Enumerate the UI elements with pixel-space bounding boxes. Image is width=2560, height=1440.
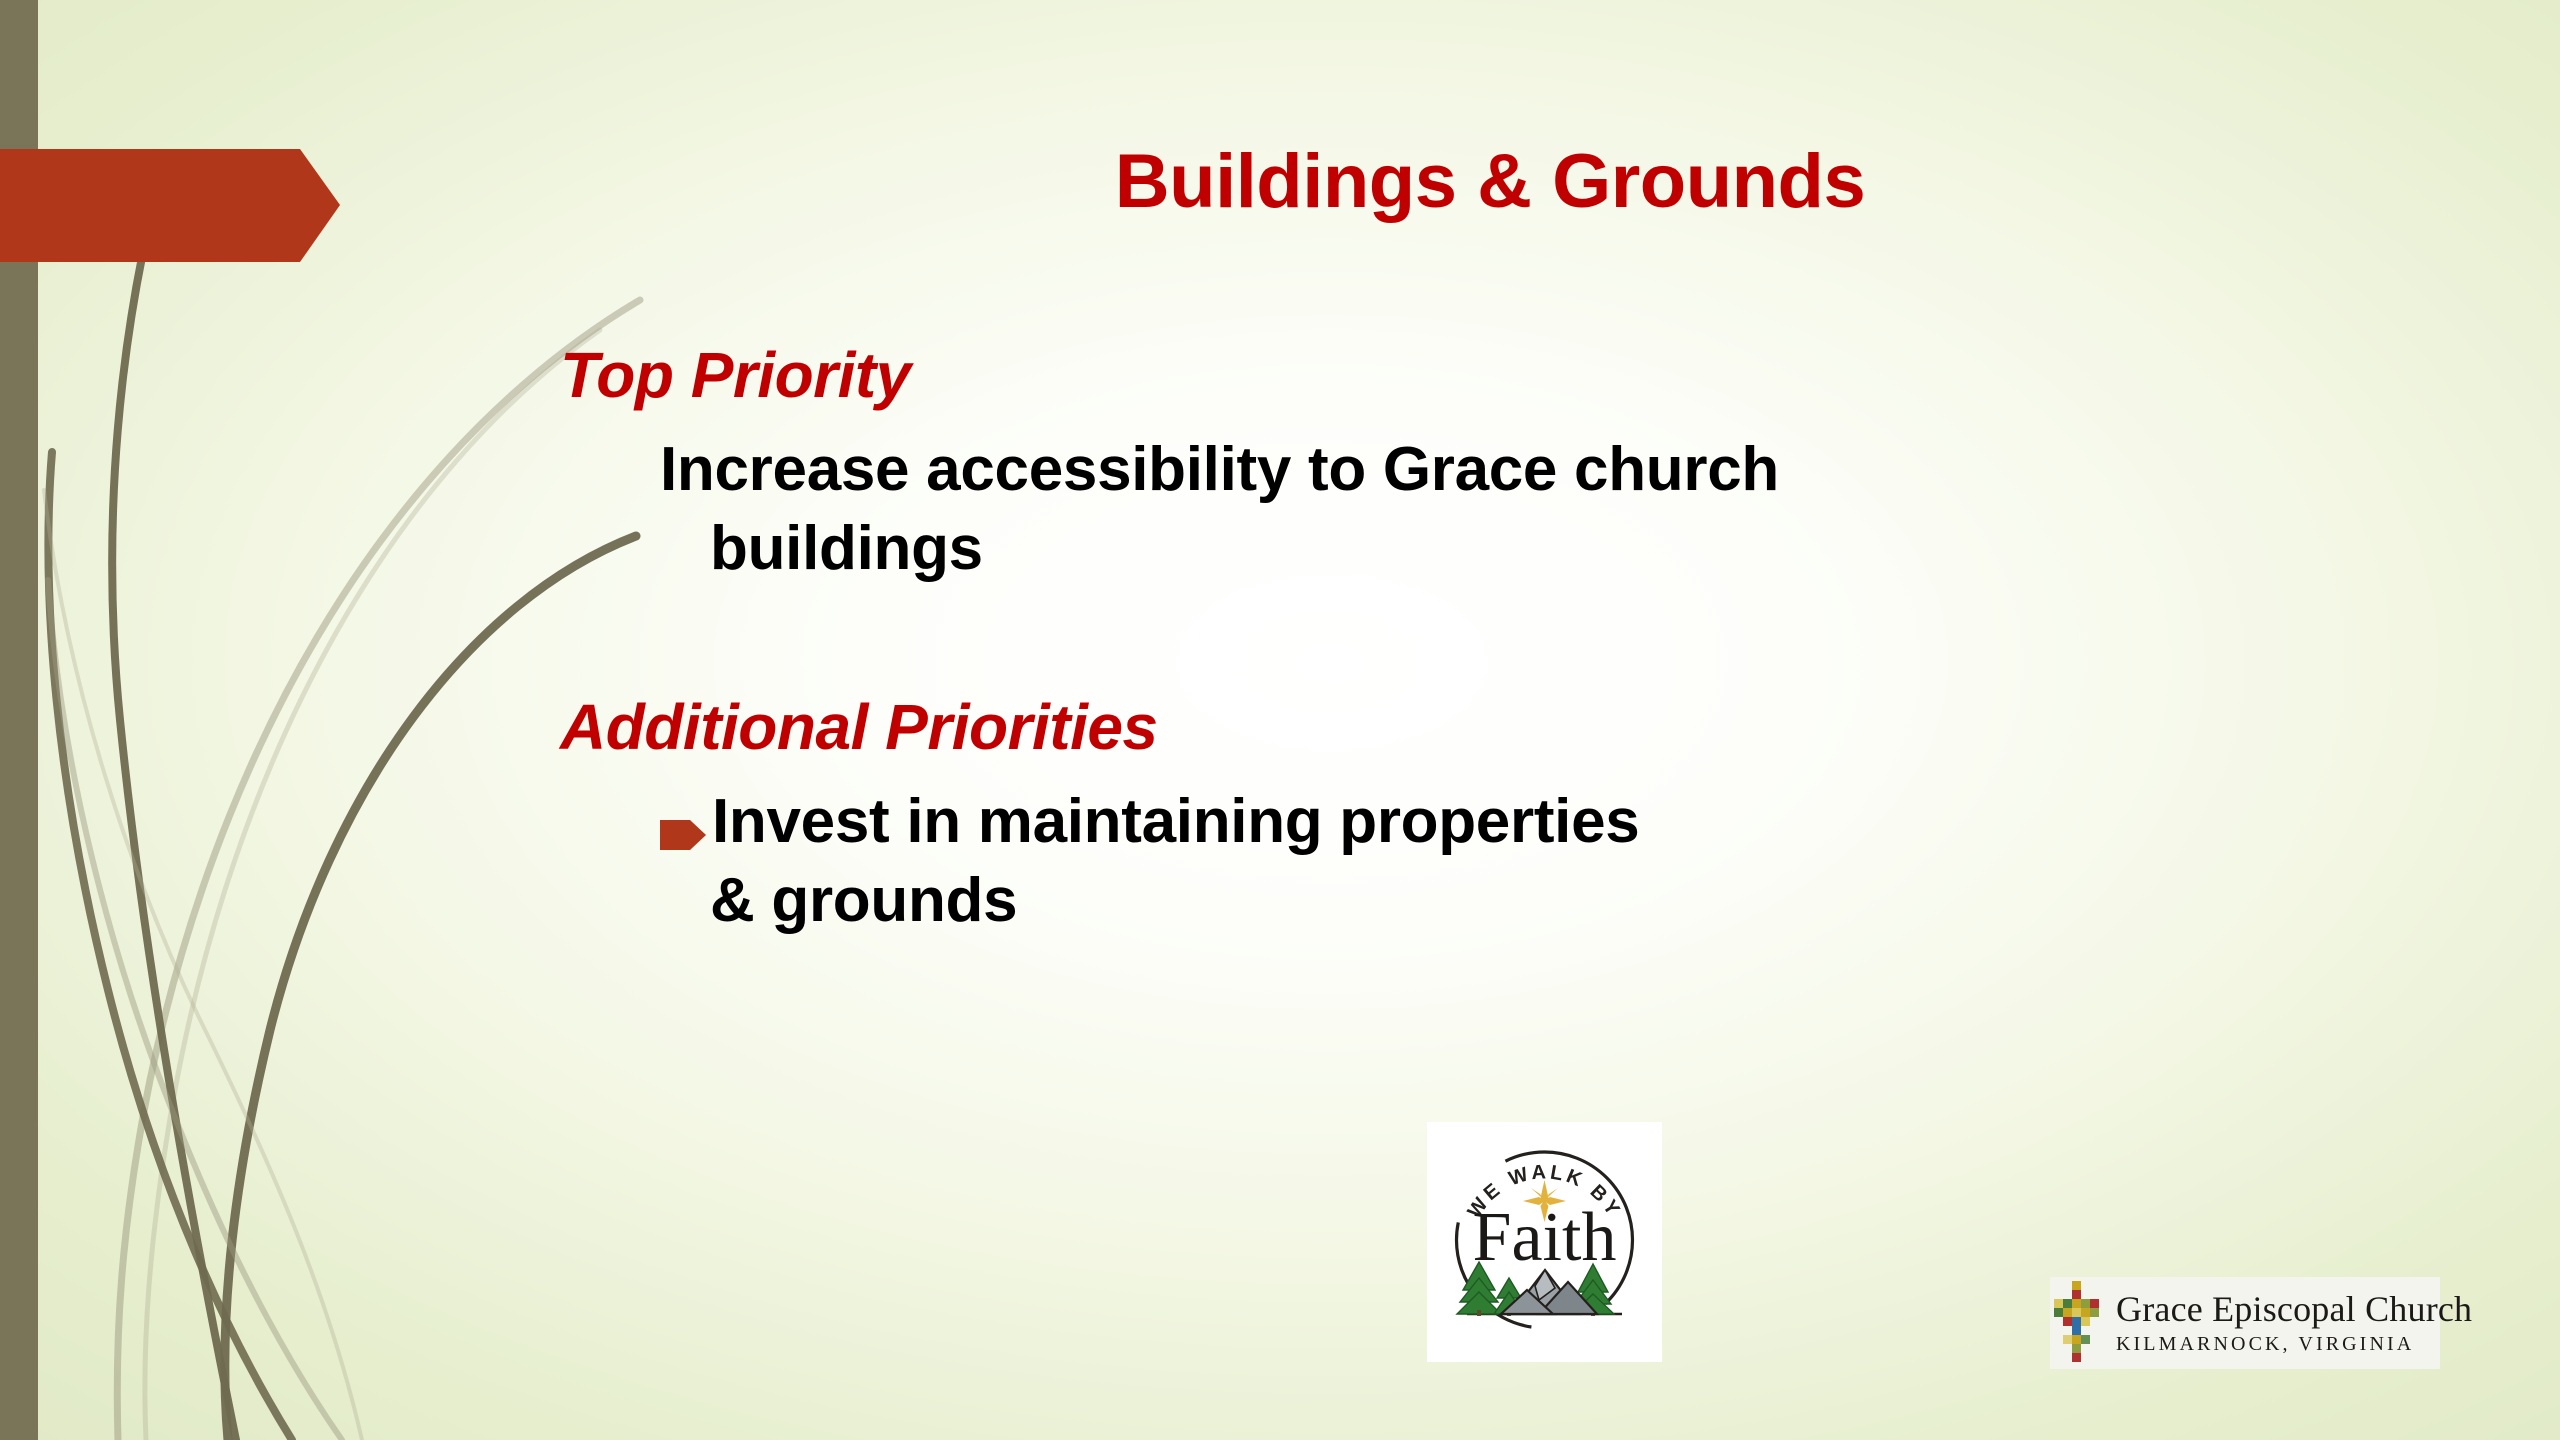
body-line: Increase accessibility to Grace church (660, 430, 2380, 509)
faith-wordmark: Faith (1473, 1199, 1617, 1276)
spacer (560, 764, 2380, 782)
arrow-bullet-icon (660, 818, 706, 852)
body-line: Invest in maintaining properties (712, 782, 1639, 861)
body-line: & grounds (710, 861, 2380, 940)
grace-church-name: Grace Episcopal Church (2116, 1291, 2472, 1327)
section-heading-top-priority: Top Priority (560, 340, 2380, 412)
presentation-slide: Buildings & Grounds Top Priority Increas… (0, 0, 2560, 1440)
faith-logo-graphic: WE WALK BY Faith (1427, 1122, 1662, 1362)
grace-logo-text: Grace Episcopal Church KILMARNOCK, VIRGI… (2110, 1291, 2472, 1356)
slide-body: Top Priority Increase accessibility to G… (560, 340, 2380, 941)
spacer (560, 588, 2380, 692)
bullet-list-item: Invest in maintaining properties (660, 782, 2380, 861)
body-line: buildings (710, 509, 2380, 588)
banner-pennant (0, 149, 340, 262)
section-heading-additional-priorities: Additional Priorities (560, 692, 2380, 764)
spacer (560, 412, 2380, 430)
we-walk-by-faith-logo: WE WALK BY Faith (1427, 1122, 1662, 1362)
mosaic-cross-icon (2048, 1279, 2110, 1367)
grace-church-location: KILMARNOCK, VIRGINIA (2116, 1333, 2472, 1356)
slide-title: Buildings & Grounds (560, 142, 2420, 222)
grace-episcopal-church-logo: Grace Episcopal Church KILMARNOCK, VIRGI… (2050, 1277, 2440, 1369)
